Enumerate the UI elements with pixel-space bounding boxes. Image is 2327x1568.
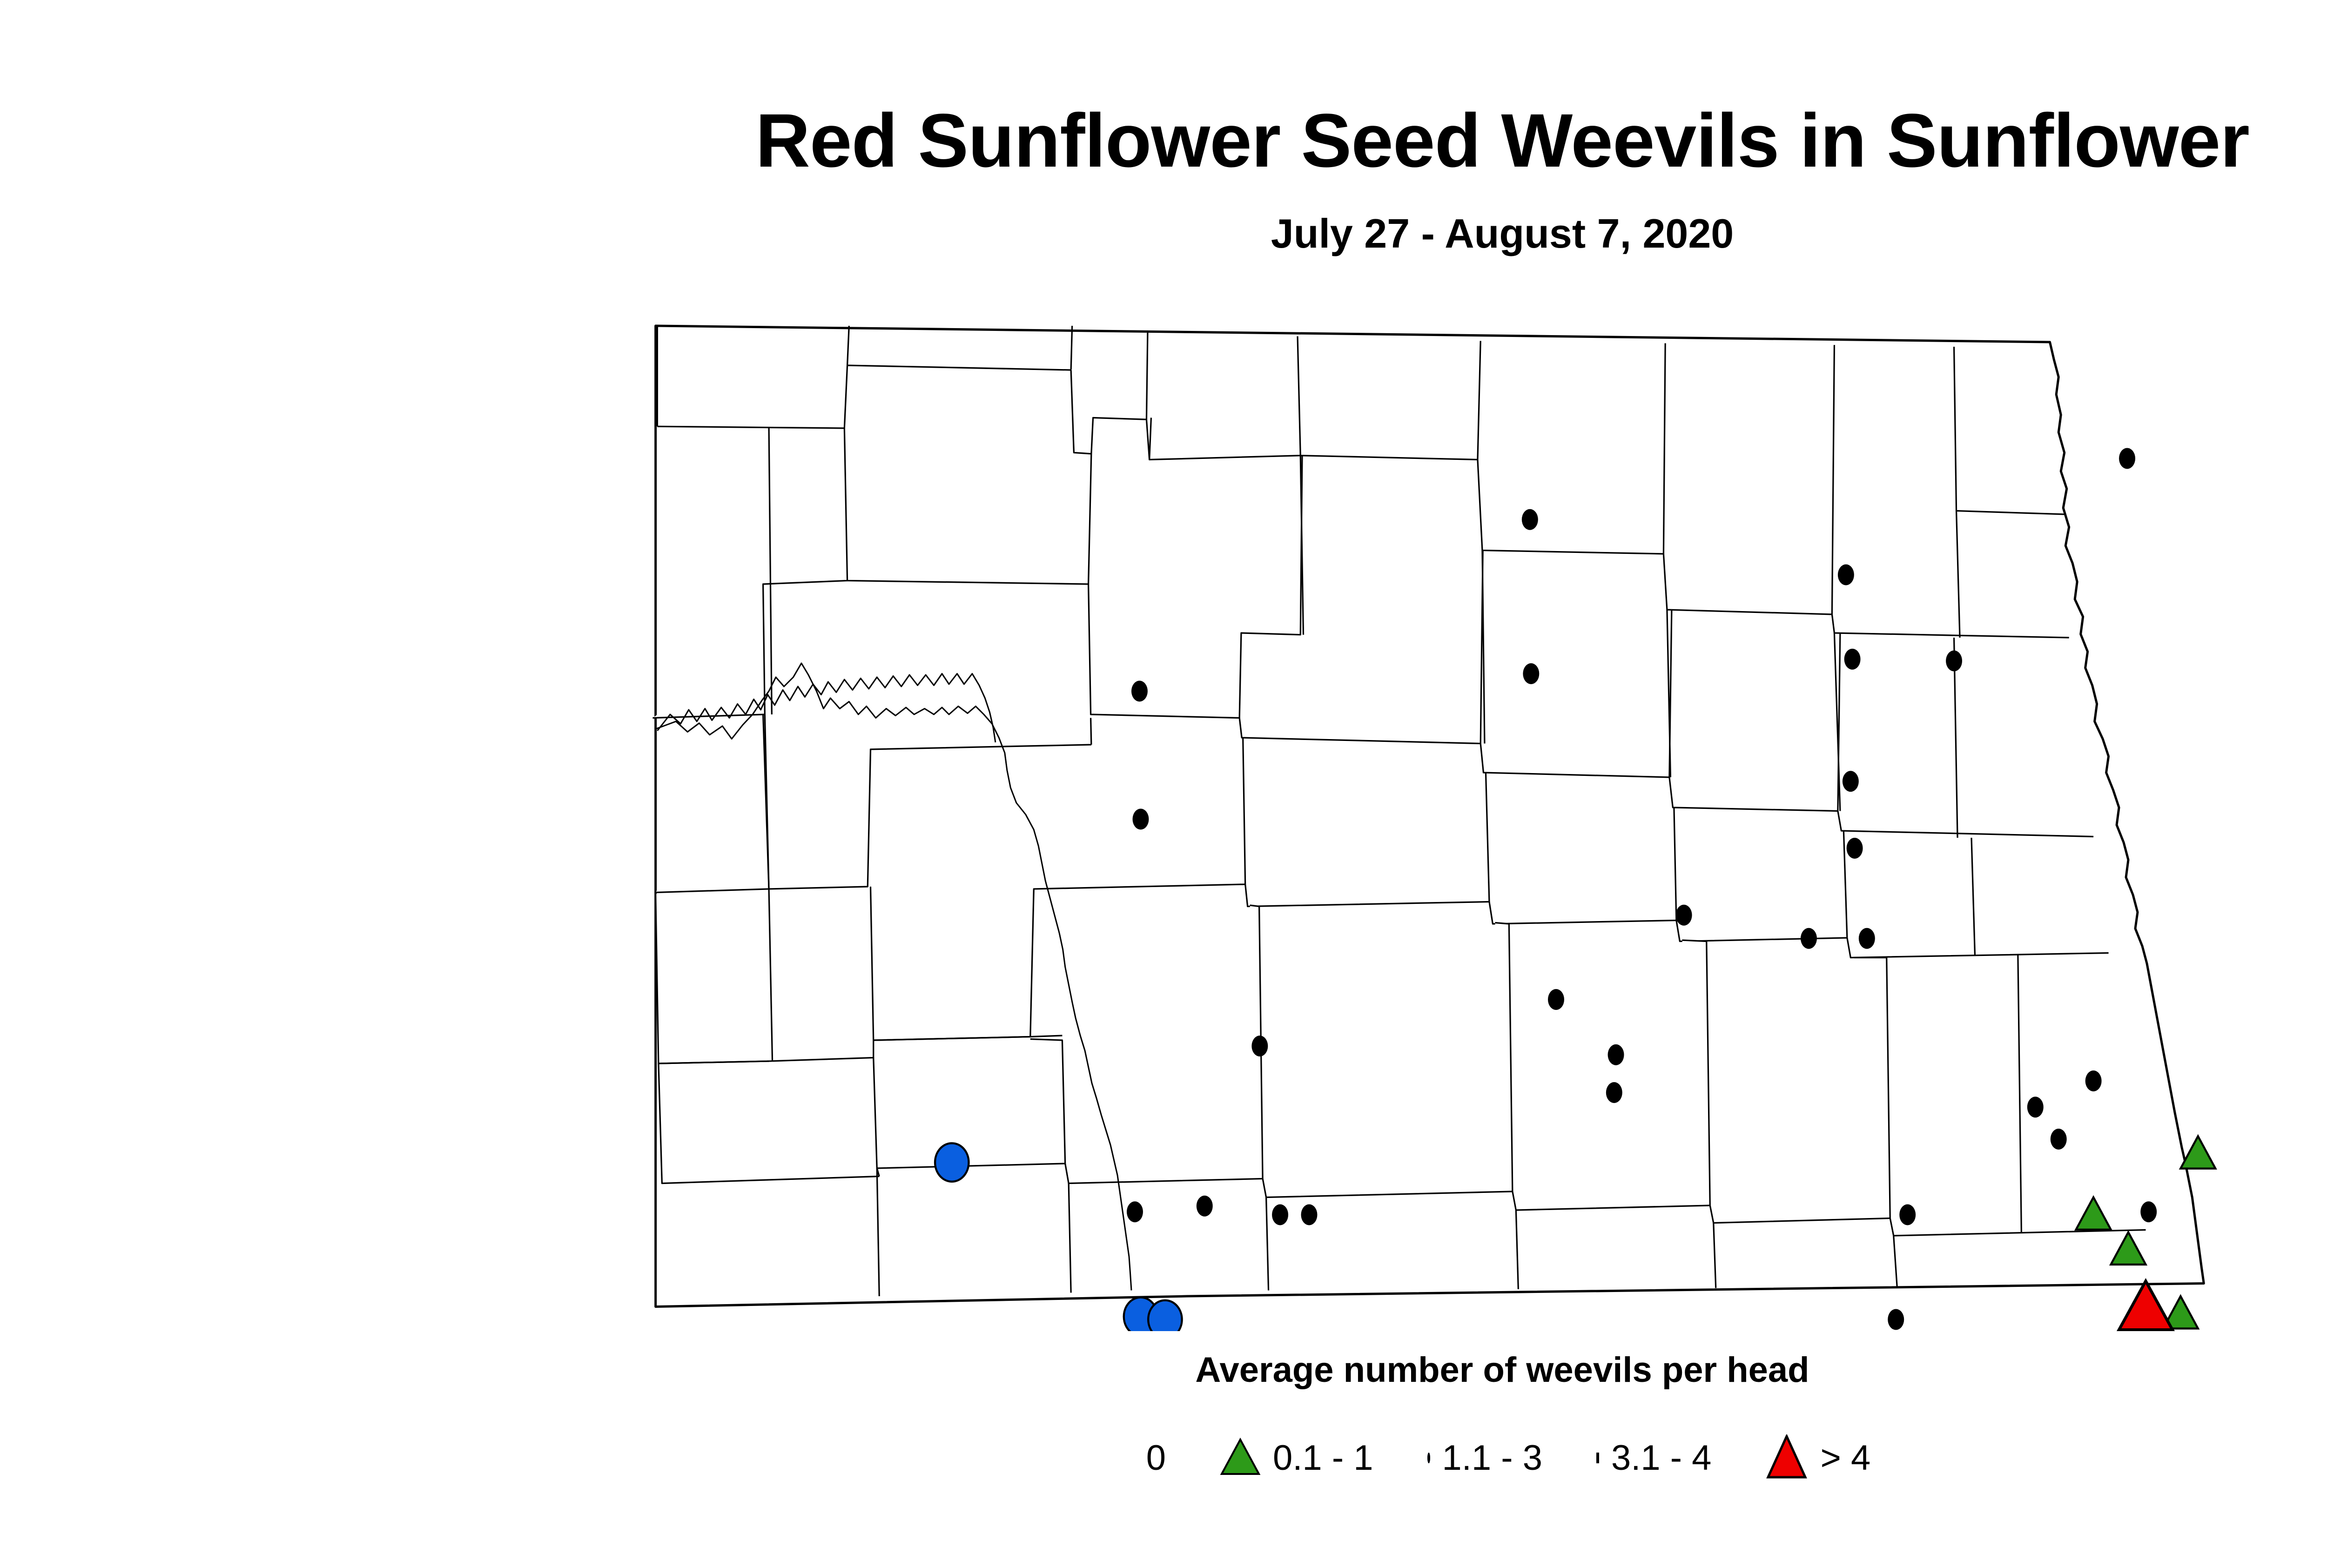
marker-zero	[1676, 905, 1692, 926]
north-dakota-map	[624, 307, 2308, 1331]
marker-zero	[2027, 1097, 2044, 1117]
marker-zero	[1131, 681, 1148, 702]
legend-row: 0 0.1 - 1 1.1 - 3 3.1 - 4 > 4	[0, 1434, 2327, 1481]
marker-very-high	[2119, 1281, 2172, 1330]
county-line	[1091, 718, 1091, 745]
legend-label-3: 3.1 - 4	[1611, 1438, 1711, 1478]
blue-circle-icon	[1427, 1454, 1430, 1462]
legend-title: Average number of weevils per head	[0, 1350, 2327, 1390]
map-svg	[624, 307, 2308, 1331]
marker-zero	[1847, 838, 1863, 859]
marker-zero	[1888, 1309, 1904, 1330]
legend-label-0: 0	[1146, 1438, 1166, 1478]
marker-zero	[1838, 565, 1854, 585]
page-title: Red Sunflower Seed Weevils in Sunflower	[0, 102, 2327, 178]
marker-zero	[1301, 1205, 1317, 1225]
legend-label-4: > 4	[1820, 1438, 1870, 1478]
title-block: Red Sunflower Seed Weevils in Sunflower …	[0, 102, 2327, 257]
legend-item-1: 0.1 - 1	[1220, 1438, 1373, 1478]
marker-zero	[1859, 928, 1875, 949]
marker-zero	[1548, 989, 1564, 1010]
marker-zero	[1197, 1196, 1213, 1217]
marker-zero	[2140, 1201, 2157, 1222]
marker-zero	[1523, 663, 1539, 684]
marker-zero	[2119, 448, 2135, 469]
marker-zero	[1844, 649, 1861, 670]
marker-zero	[2051, 1129, 2067, 1150]
page-subtitle: July 27 - August 7, 2020	[0, 210, 2327, 257]
legend-label-2: 1.1 - 3	[1442, 1438, 1542, 1478]
marker-zero	[1946, 651, 1962, 672]
map-page: Red Sunflower Seed Weevils in Sunflower …	[0, 0, 2327, 1568]
marker-zero	[1132, 809, 1149, 830]
legend: Average number of weevils per head 0 0.1…	[0, 1350, 2327, 1481]
marker-zero	[1127, 1201, 1143, 1222]
marker-zero	[1608, 1044, 1624, 1065]
marker-zero	[1272, 1205, 1288, 1225]
marker-zero	[1899, 1205, 1916, 1225]
marker-zero	[1801, 928, 1817, 949]
marker-zero	[1606, 1082, 1622, 1103]
county-layer	[652, 326, 2204, 1307]
marker-zero	[2085, 1070, 2102, 1091]
legend-item-0: 0	[1134, 1438, 1166, 1478]
marker-low	[2180, 1136, 2215, 1168]
marker-zero	[1843, 771, 1859, 792]
marker-medium	[935, 1143, 968, 1182]
marker-zero	[1522, 509, 1538, 530]
red-triangle-icon	[1765, 1434, 1808, 1481]
marker-zero	[1251, 1036, 1268, 1057]
marker-medium	[1148, 1300, 1182, 1331]
legend-item-3: 3.1 - 4	[1596, 1438, 1711, 1478]
legend-label-1: 0.1 - 1	[1273, 1438, 1373, 1478]
yellow-square-icon	[1596, 1454, 1599, 1462]
green-triangle-icon	[1220, 1438, 1261, 1478]
legend-item-4: > 4	[1765, 1434, 1870, 1481]
legend-item-2: 1.1 - 3	[1427, 1438, 1542, 1478]
